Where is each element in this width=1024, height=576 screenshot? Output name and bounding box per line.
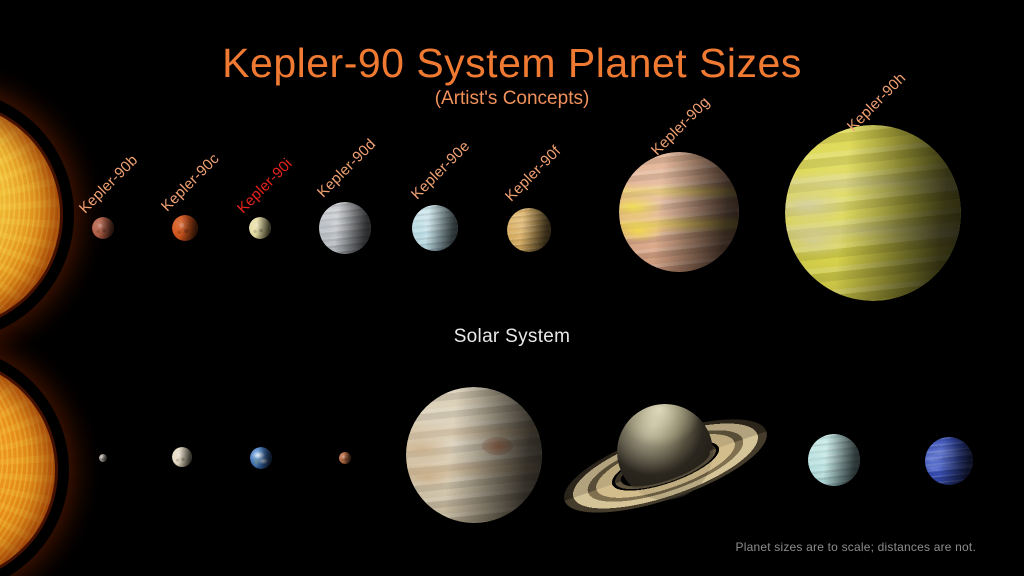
terminator-shadow [785,125,961,301]
planet-kepler-90i [249,217,271,239]
planet-mercury [99,454,107,462]
terminator-shadow [619,152,739,272]
star-sun [0,360,55,576]
scale-footnote: Planet sizes are to scale; distances are… [736,540,976,554]
terminator-shadow [249,217,271,239]
terminator-shadow [92,217,114,239]
terminator-shadow [172,447,192,467]
planet-kepler-90e [412,205,458,251]
page-title: Kepler-90 System Planet Sizes [0,40,1024,87]
terminator-shadow [172,215,198,241]
planet-neptune [925,437,973,485]
infographic-canvas: Kepler-90bKepler-90cKepler-90iKepler-90d… [0,0,1024,576]
planet-kepler-90c [172,215,198,241]
terminator-shadow [412,205,458,251]
planet-uranus [808,434,860,486]
planet-mars [339,452,351,464]
star-kepler-90-star [0,103,60,327]
planet-label-kepler-90f: Kepler-90f [502,143,564,205]
planet-jupiter [406,387,542,523]
planet-label-kepler-90c: Kepler-90c [158,150,223,215]
planet-kepler-90f [507,208,551,252]
planet-kepler-90b [92,217,114,239]
terminator-shadow [339,452,351,464]
planet-label-kepler-90b: Kepler-90b [76,152,141,217]
terminator-shadow [507,208,551,252]
planet-label-kepler-90e: Kepler-90e [408,138,473,203]
terminator-shadow [250,447,272,469]
planet-label-kepler-90d: Kepler-90d [314,136,379,201]
terminator-shadow [808,434,860,486]
page-subtitle: (Artist's Concepts) [0,88,1024,110]
planet-label-kepler-90i: Kepler-90i [234,155,296,217]
solar-system-label: Solar System [0,326,1024,348]
planet-kepler-90d [319,202,371,254]
terminator-shadow [99,454,107,462]
planet-kepler-90g [619,152,739,272]
planet-kepler-90h [785,125,961,301]
terminator-shadow [406,387,542,523]
planet-venus [172,447,192,467]
terminator-shadow [319,202,371,254]
planet-earth [250,447,272,469]
terminator-shadow [925,437,973,485]
